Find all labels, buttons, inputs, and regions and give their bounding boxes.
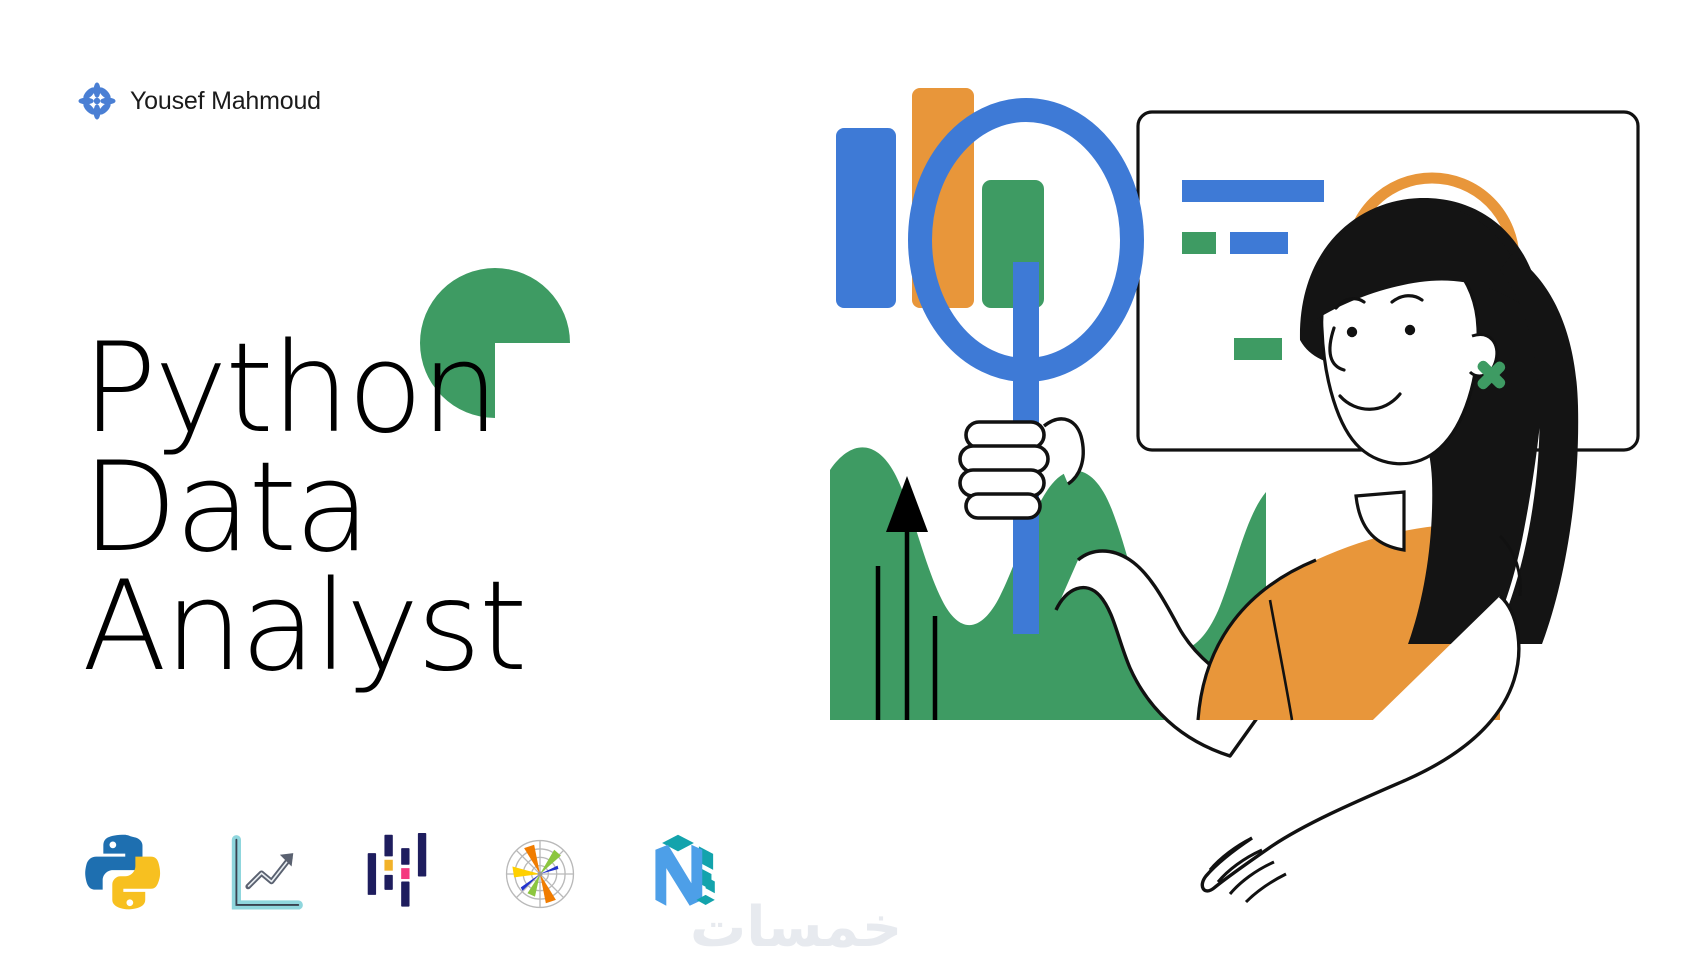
tech-stack-row [80,818,724,930]
data-analyst-illustration [800,40,1700,930]
title-line-1: Python [82,330,525,449]
card-bar-blue-long [1182,180,1324,202]
title-line-3: Analyst [82,568,525,687]
python-logo-icon [80,818,172,930]
line-chart-trend-icon [218,818,310,930]
flower-asterisk-icon [78,82,116,120]
card-bar-blue-short [1230,232,1288,254]
pandas-logo-icon [356,818,448,930]
bar-chart-blue-bar [836,128,896,308]
brand-lockup: Yousef Mahmoud [78,82,321,120]
matplotlib-logo-icon [494,818,586,930]
card-chip-green-2 [1234,338,1282,360]
banner-canvas: Yousef Mahmoud Python Data Analyst [0,0,1700,970]
card-chip-green [1182,232,1216,254]
hand-grip [960,422,1048,518]
page-title: Python Data Analyst [82,330,525,687]
title-line-2: Data [82,449,525,568]
brand-name: Yousef Mahmoud [130,89,321,114]
